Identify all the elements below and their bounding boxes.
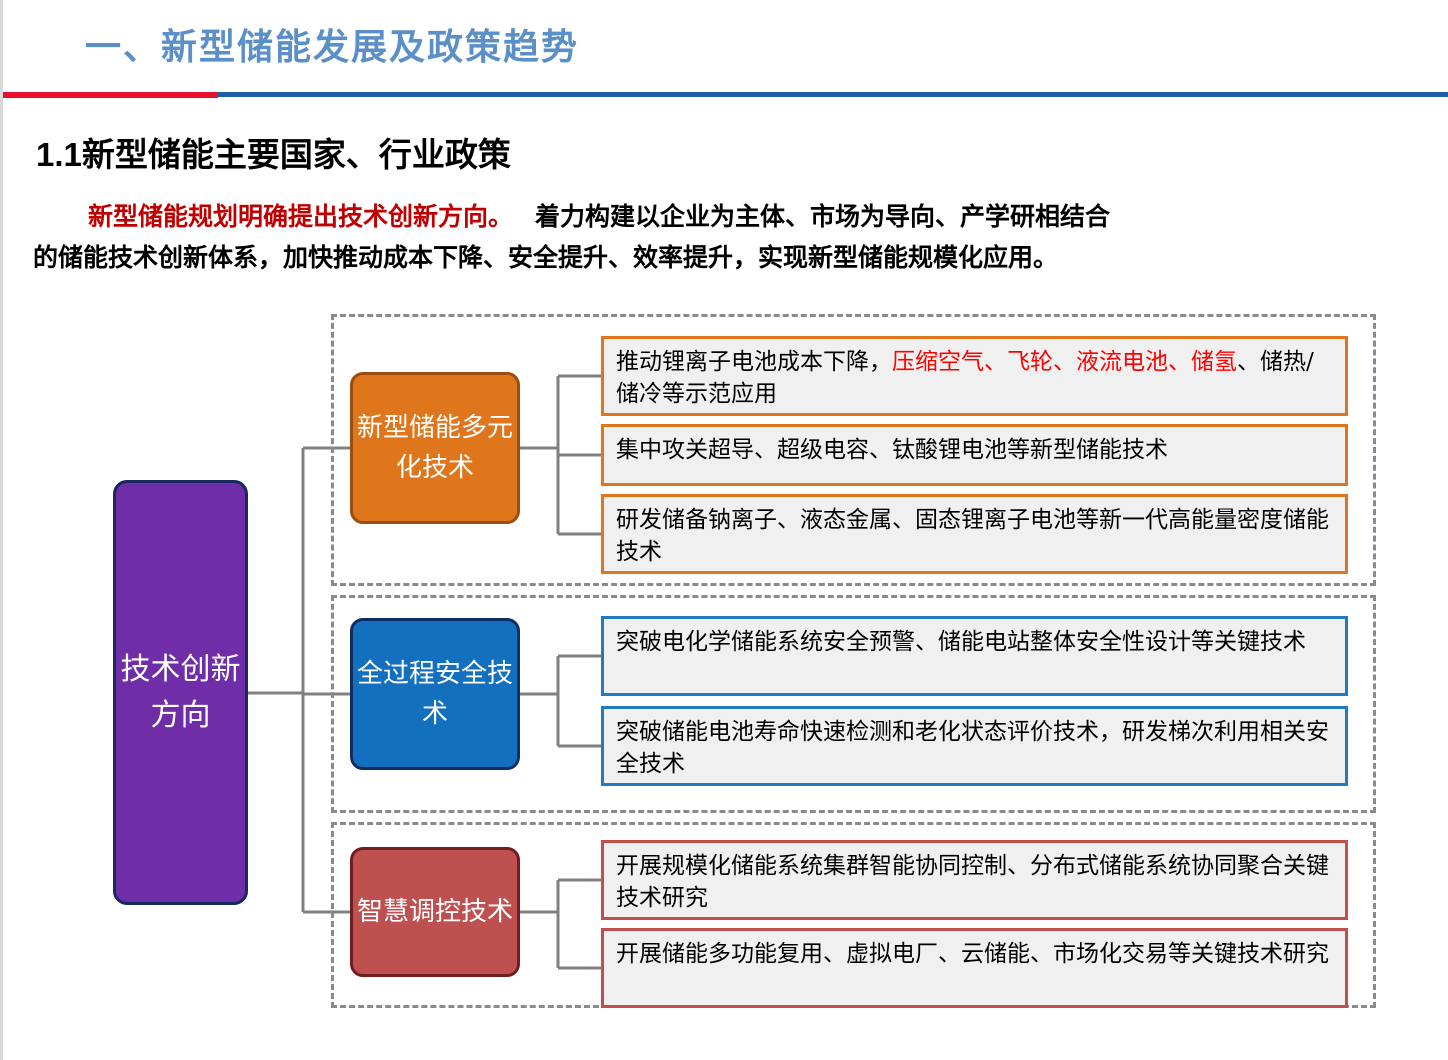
branch-node-label: 智慧调控技术: [357, 892, 513, 932]
content-box[interactable]: 突破储能电池寿命快速检测和老化状态评价技术，研发梯次利用相关安全技术: [601, 706, 1348, 786]
content-text: 集中攻关超导、超级电容、钛酸锂电池等新型储能技术: [616, 437, 1168, 463]
branch-node-safety[interactable]: 全过程安全技术: [350, 618, 520, 770]
content-text: 开展储能多功能复用、虚拟电厂、云储能、市场化交易等关键技术研究: [616, 941, 1329, 967]
page-title: 一、新型储能发展及政策趋势: [85, 18, 579, 70]
lead-paragraph: 新型储能规划明确提出技术创新方向。着力构建以企业为主体、市场为导向、产学研相结合…: [33, 197, 1423, 278]
content-text: 突破储能电池寿命快速检测和老化状态评价技术，研发梯次利用相关安全技术: [616, 719, 1329, 777]
content-box[interactable]: 开展规模化储能系统集群智能协同控制、分布式储能系统协同聚合关键技术研究: [601, 840, 1348, 920]
content-text: 研发储备钠离子、液态金属、固态锂离子电池等新一代高能量密度储能技术: [616, 507, 1329, 565]
branch-node-label: 新型储能多元化技术: [353, 408, 517, 489]
lead-emphasis: 新型储能规划明确提出技术创新方向。: [88, 203, 513, 231]
header-divider: [3, 92, 1448, 98]
slide-page: 一、新型储能发展及政策趋势 1.1新型储能主要国家、行业政策 新型储能规划明确提…: [0, 0, 1448, 1060]
content-box[interactable]: 推动锂离子电池成本下降，压缩空气、飞轮、液流电池、储氢、储热/储冷等示范应用: [601, 336, 1348, 416]
content-text: 开展规模化储能系统集群智能协同控制、分布式储能系统协同聚合关键技术研究: [616, 853, 1329, 911]
header-divider-red-segment: [3, 92, 218, 98]
root-node-innovation-direction[interactable]: 技术创新方向: [113, 480, 248, 905]
lead-line2: 的储能技术创新体系，加快推动成本下降、安全提升、效率提升，实现新型储能规模化应用…: [33, 244, 1058, 272]
content-text: 突破电化学储能系统安全预警、储能电站整体安全性设计等关键技术: [616, 629, 1306, 655]
content-text: 推动锂离子电池成本下降，: [616, 349, 892, 375]
technology-innovation-diagram: 技术创新方向 新型储能多元化技术 全过程安全技术 智慧调控技术 推动锂离子电池成…: [3, 300, 1448, 1030]
content-box[interactable]: 突破电化学储能系统安全预警、储能电站整体安全性设计等关键技术: [601, 616, 1348, 696]
branch-node-diversification[interactable]: 新型储能多元化技术: [350, 372, 520, 524]
branch-node-label: 全过程安全技术: [353, 654, 517, 735]
content-box[interactable]: 研发储备钠离子、液态金属、固态锂离子电池等新一代高能量密度储能技术: [601, 494, 1348, 574]
section-title: 1.1新型储能主要国家、行业政策: [36, 128, 511, 176]
content-text-highlight: 压缩空气、飞轮、液流电池、储氢: [892, 349, 1237, 375]
header-divider-blue-segment: [218, 92, 1448, 97]
lead-rest-line1: 着力构建以企业为主体、市场为导向、产学研相结合: [535, 203, 1110, 231]
content-box[interactable]: 集中攻关超导、超级电容、钛酸锂电池等新型储能技术: [601, 424, 1348, 486]
root-node-label: 技术创新方向: [116, 647, 245, 738]
content-box[interactable]: 开展储能多功能复用、虚拟电厂、云储能、市场化交易等关键技术研究: [601, 928, 1348, 1008]
branch-node-smart-control[interactable]: 智慧调控技术: [350, 847, 520, 977]
